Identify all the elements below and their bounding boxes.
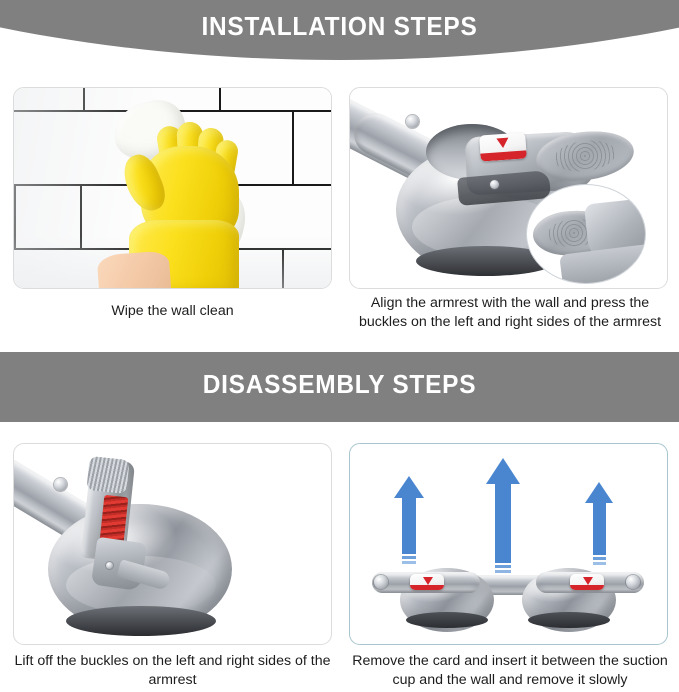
arrow-tail-tick [402, 556, 416, 559]
arrow-tail-tick [495, 570, 511, 573]
step-image-align-the-armrest [349, 87, 668, 289]
caption-align-the-armrest: Align the armrest with the wall and pres… [345, 294, 675, 332]
arrow-shaft [402, 497, 416, 554]
disassembly-banner: DISASSEMBLY STEPS [0, 352, 679, 422]
arrow-tail-tick [495, 565, 511, 568]
step-image-lift-off-the-buckles [13, 443, 332, 645]
red-indicator-button-left [410, 574, 444, 590]
arrow-tail-tick [593, 557, 606, 560]
suction-cup-rim [66, 606, 216, 636]
wipe-wall-illustration [14, 88, 331, 288]
grip-texture-rings [552, 137, 618, 175]
handle-rivet [54, 478, 67, 491]
suction-cup-rim-right [528, 612, 610, 628]
lift-buckle-illustration [14, 444, 331, 644]
red-arrow-icon [583, 577, 593, 585]
arrow-head-icon [394, 476, 424, 498]
red-indicator-button [479, 132, 527, 161]
red-indicator-button-right [570, 574, 604, 590]
red-spring [100, 495, 129, 543]
installation-banner-title: INSTALLATION STEPS [20, 11, 658, 42]
lever-ribbed-grip [86, 456, 129, 494]
caption-lift-off-the-buckles: Lift off the buckles on the left and rig… [13, 652, 332, 690]
buckle-pivot-right [626, 575, 640, 589]
installation-banner: INSTALLATION STEPS [0, 0, 679, 64]
red-arrow-icon [423, 577, 433, 585]
arrow-tail-tick [402, 561, 416, 564]
arrow-shaft [495, 483, 511, 563]
suction-cup-rim-left [406, 612, 488, 628]
forearm-skin [97, 251, 172, 289]
handle-rivet [406, 115, 419, 128]
caption-remove-the-card: Remove the card and insert it between th… [345, 652, 675, 690]
red-arrow-icon [496, 138, 509, 149]
arrow-shaft [593, 502, 606, 555]
buckle-pivot-left [374, 575, 388, 589]
arrow-tail-tick [593, 562, 606, 565]
arrow-head-icon [486, 458, 520, 484]
arrow-head-icon [585, 482, 613, 503]
buckle-rivet [490, 180, 499, 189]
caption-wipe-the-wall: Wipe the wall clean [13, 302, 332, 321]
pull-up-arrow-center [486, 458, 520, 588]
pull-up-arrow-right [585, 482, 613, 572]
buckle-rivet [106, 562, 113, 569]
disassembly-banner-title: DISASSEMBLY STEPS [20, 369, 658, 400]
closeup-inset-circle [526, 184, 646, 284]
pull-up-arrow-left [394, 476, 424, 572]
step-image-remove-the-card [349, 443, 668, 645]
step-image-wipe-the-wall [13, 87, 332, 289]
align-armrest-illustration [350, 88, 667, 288]
remove-suction-illustration [350, 444, 667, 644]
